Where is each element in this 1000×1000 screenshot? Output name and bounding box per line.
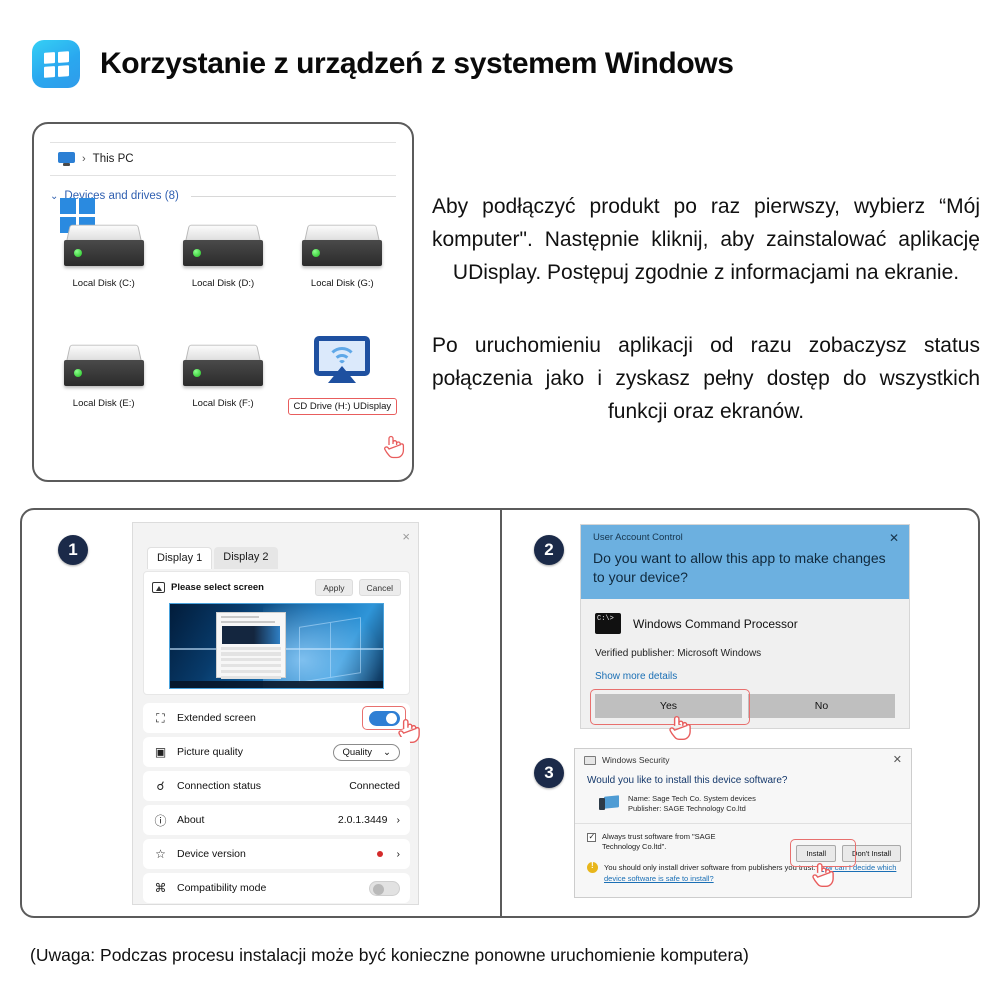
shield-window-icon <box>584 756 596 765</box>
extend-screen-icon: ⛶ <box>153 711 168 726</box>
command-prompt-icon <box>595 613 621 634</box>
uac-app-row: Windows Command Processor <box>595 613 895 634</box>
drive-item-f[interactable]: Local Disk (F:) <box>163 336 282 446</box>
group-divider <box>191 196 396 197</box>
hard-drive-icon <box>181 336 265 390</box>
steps-panel: 1 × Display 1 Display 2 Please select sc… <box>20 508 980 918</box>
setting-label: Connection status <box>177 780 340 792</box>
chevron-down-icon: ⌄ <box>50 191 58 202</box>
windows-security-dialog: Windows Security ✕ Would you like to ins… <box>574 748 912 898</box>
hard-drive-icon <box>62 336 146 390</box>
uac-body: Windows Command Processor Verified publi… <box>581 599 909 728</box>
drive-item-g[interactable]: Local Disk (G:) <box>283 216 402 326</box>
chevron-down-icon: ⌄ <box>383 747 391 758</box>
screen-preview-thumbnail[interactable] <box>169 603 384 689</box>
hard-drive-icon <box>181 216 265 270</box>
uac-buttons: Yes No <box>595 694 895 718</box>
uac-app-name: Windows Command Processor <box>633 617 798 631</box>
security-buttons: Install Don't Install <box>796 845 901 862</box>
update-dot-badge <box>377 851 383 857</box>
security-device-row: Name: Sage Tech Co. System devices Publi… <box>575 786 911 814</box>
connection-status-value: Connected <box>349 780 400 792</box>
setting-row-compatibility-mode[interactable]: ⌘ Compatibility mode <box>143 873 410 903</box>
footer-note: (Uwaga: Podczas procesu instalacji może … <box>30 945 749 966</box>
step-1-column: 1 × Display 1 Display 2 Please select sc… <box>22 510 502 916</box>
link-icon: ☌ <box>153 779 168 793</box>
page-root: Korzystanie z urządzeń z systemem Window… <box>0 0 1000 1000</box>
setting-label: Picture quality <box>177 746 324 758</box>
drive-item-e[interactable]: Local Disk (E:) <box>44 336 163 446</box>
settings-list: ⛶ Extended screen ▣ Picture quality Qual… <box>143 703 410 907</box>
always-trust-checkbox[interactable] <box>587 833 596 842</box>
compatibility-mode-toggle[interactable] <box>369 881 400 896</box>
hard-drive-icon <box>62 216 146 270</box>
step-badge-2: 2 <box>534 535 564 565</box>
drive-label: Local Disk (G:) <box>311 278 374 289</box>
drive-item-d[interactable]: Local Disk (D:) <box>163 216 282 326</box>
setting-label: Compatibility mode <box>177 882 360 894</box>
setting-row-picture-quality[interactable]: ▣ Picture quality Quality ⌄ <box>143 737 410 767</box>
star-icon: ☆ <box>153 847 168 861</box>
warning-text: You should only install driver software … <box>604 863 816 872</box>
chevron-right-icon: › <box>397 848 401 860</box>
screen-cast-icon <box>152 582 165 593</box>
drive-label: Local Disk (F:) <box>192 398 253 409</box>
chevron-right-icon: › <box>397 814 401 826</box>
drive-item-c[interactable]: Local Disk (C:) <box>44 216 163 326</box>
screen-cast-icon <box>300 336 384 390</box>
hand-cursor-icon <box>382 434 406 460</box>
windows-logo-icon <box>32 40 80 88</box>
select-screen-title: Please select screen <box>171 582 309 593</box>
monitor-icon <box>58 152 75 166</box>
about-version-value: 2.0.1.3449 <box>338 814 388 826</box>
drive-label: Local Disk (D:) <box>192 278 254 289</box>
uac-header: User Account Control ✕ Do you want to al… <box>581 525 909 599</box>
drive-item-udisplay[interactable]: CD Drive (H:) UDisplay <box>283 336 402 446</box>
always-trust-label: Always trust software from "SAGE Technol… <box>602 832 752 852</box>
info-icon: ⓘ <box>153 812 168 829</box>
breadcrumb-separator: › <box>82 153 86 165</box>
screen-select-panel: Please select screen Apply Cancel <box>143 571 410 695</box>
step-badge-1: 1 <box>58 535 88 565</box>
breadcrumb-this-pc: This PC <box>93 153 134 165</box>
device-name-line: Name: Sage Tech Co. System devices <box>628 794 756 804</box>
close-icon[interactable]: ✕ <box>889 531 899 545</box>
page-title: Korzystanie z urządzeń z systemem Window… <box>100 47 734 81</box>
page-header: Korzystanie z urządzeń z systemem Window… <box>32 40 734 88</box>
setting-label: About <box>177 814 329 826</box>
tab-display-1[interactable]: Display 1 <box>147 547 212 569</box>
drive-label: Local Disk (C:) <box>73 278 135 289</box>
apply-button[interactable]: Apply <box>315 579 352 596</box>
step-badge-3: 3 <box>534 758 564 788</box>
command-icon: ⌘ <box>153 881 168 895</box>
setting-label: Extended screen <box>177 712 360 724</box>
paragraph-2: Po uruchomieniu aplikacji od razu zobacz… <box>432 329 980 428</box>
security-question: Would you like to install this device so… <box>575 771 911 786</box>
hand-cursor-icon <box>667 714 693 742</box>
hard-drive-icon <box>300 216 384 270</box>
security-window-title: Windows Security <box>602 755 670 765</box>
hand-cursor-icon <box>810 861 836 889</box>
setting-row-device-version[interactable]: ☆ Device version › <box>143 839 410 869</box>
uac-window-title: User Account Control <box>593 532 897 543</box>
display-tabs: Display 1 Display 2 <box>147 547 278 569</box>
picture-icon: ▣ <box>153 745 168 759</box>
setting-row-extended-screen[interactable]: ⛶ Extended screen <box>143 703 410 733</box>
device-publisher-line: Publisher: SAGE Technology Co.ltd <box>628 804 756 814</box>
close-icon[interactable]: × <box>402 529 410 544</box>
step-2-3-column: 2 3 User Account Control ✕ Do you want t… <box>502 510 978 916</box>
preview-nested-dialog <box>216 612 286 678</box>
uac-publisher: Verified publisher: Microsoft Windows <box>595 648 895 659</box>
tab-display-2[interactable]: Display 2 <box>214 547 277 569</box>
setting-row-connection-status: ☌ Connection status Connected <box>143 771 410 801</box>
file-explorer-card: › This PC ⌄ Devices and drives (8) Local… <box>32 122 414 482</box>
close-icon[interactable]: ✕ <box>893 753 902 766</box>
paragraph-1: Aby podłączyć produkt po raz pierwszy, w… <box>432 190 980 289</box>
uac-question: Do you want to allow this app to make ch… <box>593 549 897 587</box>
udisplay-app-window: × Display 1 Display 2 Please select scre… <box>132 522 419 905</box>
drive-label-highlighted: CD Drive (H:) UDisplay <box>288 398 398 415</box>
devices-group-header[interactable]: ⌄ Devices and drives (8) <box>50 190 396 202</box>
show-more-details-link[interactable]: Show more details <box>595 671 895 682</box>
drive-grid: Local Disk (C:) Local Disk (D:) Local Di… <box>34 202 412 446</box>
picture-quality-dropdown[interactable]: Quality ⌄ <box>333 744 400 761</box>
device-driver-icon <box>599 796 619 812</box>
warning-shield-icon <box>587 862 598 873</box>
setting-label: Device version <box>177 848 368 860</box>
instruction-copy: Aby podłączyć produkt po raz pierwszy, w… <box>432 190 980 428</box>
security-header: Windows Security ✕ <box>575 749 911 771</box>
dropdown-value: Quality <box>342 747 372 758</box>
no-button[interactable]: No <box>748 694 895 718</box>
setting-row-about[interactable]: ⓘ About 2.0.1.3449 › <box>143 805 410 835</box>
select-screen-row: Please select screen Apply Cancel <box>144 572 409 596</box>
drive-label: Local Disk (E:) <box>73 398 135 409</box>
uac-dialog: User Account Control ✕ Do you want to al… <box>580 524 910 729</box>
address-bar[interactable]: › This PC <box>50 142 396 176</box>
cancel-button[interactable]: Cancel <box>359 579 401 596</box>
